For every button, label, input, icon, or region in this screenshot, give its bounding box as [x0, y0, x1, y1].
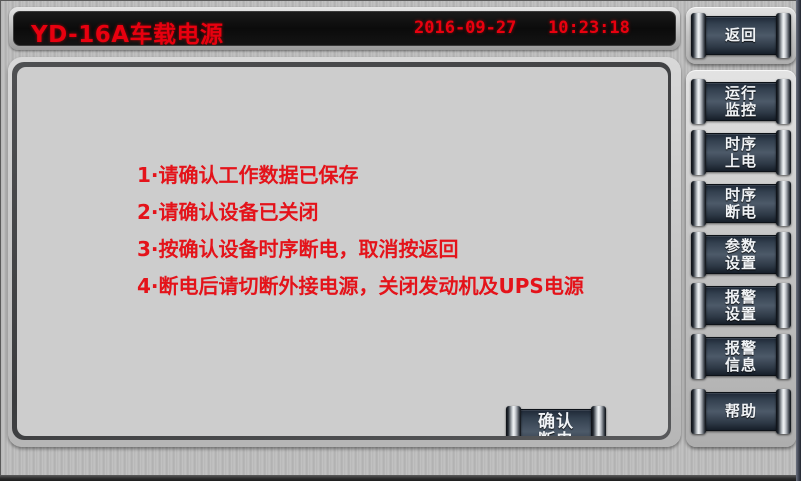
confirm-label-line1: 确认 [538, 413, 574, 431]
label-line1: 时序 [725, 136, 757, 152]
label-line2: 信息 [725, 357, 757, 373]
sidebar-item-run-monitor-label: 运行 监控 [700, 83, 782, 120]
sidebar-item-parameter-settings[interactable]: 参数 设置 [699, 235, 783, 274]
time-display: 10:23:18 [548, 18, 630, 38]
label-line2: 上电 [725, 153, 757, 169]
sidebar-item-help[interactable]: 帮助 [699, 392, 783, 431]
instruction-line-4: 4·断电后请切断外接电源，关闭发动机及UPS电源 [137, 268, 657, 305]
label-line1: 报警 [725, 289, 757, 305]
bezel-right-edge [796, 0, 801, 481]
sidebar-item-alarm-settings-body[interactable]: 报警 设置 [699, 286, 783, 325]
page-title: YD-16A车载电源 [31, 15, 224, 46]
label-line1: 运行 [725, 85, 757, 101]
sidebar-item-sequence-power-on[interactable]: 时序 上电 [699, 133, 783, 172]
instruction-list: 1·请确认工作数据已保存 2·请确认设备已关闭 3·按确认设备时序断电，取消按返… [137, 157, 657, 305]
confirm-power-off-label: 确认 断电 [515, 410, 597, 436]
bezel-bottom-edge [0, 475, 801, 481]
sidebar-item-parameter-settings-label: 参数 设置 [700, 236, 782, 273]
sidebar-item-alarm-info-label: 报警 信息 [700, 338, 782, 375]
sidebar-item-sequence-power-off-body[interactable]: 时序 断电 [699, 184, 783, 223]
instruction-line-3: 3·按确认设备时序断电，取消按返回 [137, 231, 657, 268]
sidebar-item-sequence-power-on-body[interactable]: 时序 上电 [699, 133, 783, 172]
label-line2: 设置 [725, 306, 757, 322]
label-line1: 时序 [725, 187, 757, 203]
titlebar: YD-16A车载电源 2016-09-27 10:23:18 [13, 11, 676, 46]
sidebar-item-parameter-settings-body[interactable]: 参数 设置 [699, 235, 783, 274]
sidebar-item-alarm-settings[interactable]: 报警 设置 [699, 286, 783, 325]
instruction-line-1: 1·请确认工作数据已保存 [137, 157, 657, 194]
date-display: 2016-09-27 [414, 18, 516, 38]
sidebar-item-run-monitor-body[interactable]: 运行 监控 [699, 82, 783, 121]
sidebar-item-sequence-power-off-label: 时序 断电 [700, 185, 782, 222]
sidebar-main-panel: 运行 监控 时序 上电 时序 断电 [686, 70, 796, 447]
sidebar-item-alarm-info-body[interactable]: 报警 信息 [699, 337, 783, 376]
sidebar-item-help-label: 帮助 [700, 393, 782, 430]
sidebar-item-help-body[interactable]: 帮助 [699, 392, 783, 431]
sidebar-item-alarm-settings-label: 报警 设置 [700, 287, 782, 324]
confirm-label-line2: 断电 [538, 432, 574, 437]
instruction-line-2: 2·请确认设备已关闭 [137, 194, 657, 231]
label-line2: 设置 [725, 255, 757, 271]
sidebar-top-panel: 返回 [686, 7, 796, 64]
sidebar-item-alarm-info[interactable]: 报警 信息 [699, 337, 783, 376]
sidebar-item-sequence-power-on-label: 时序 上电 [700, 134, 782, 171]
sidebar-item-back[interactable]: 返回 [699, 16, 783, 55]
label-line1: 参数 [725, 238, 757, 254]
confirm-power-off-button-body[interactable]: 确认 断电 [514, 409, 598, 436]
confirm-power-off-button[interactable]: 确认 断电 [514, 409, 598, 436]
sidebar-item-back-label: 返回 [700, 17, 782, 54]
sidebar-item-back-body[interactable]: 返回 [699, 16, 783, 55]
sidebar-item-run-monitor[interactable]: 运行 监控 [699, 82, 783, 121]
hmi-screen: YD-16A车载电源 2016-09-27 10:23:18 1·请确认工作数据… [0, 0, 801, 481]
label-line2: 监控 [725, 102, 757, 118]
label-line1: 报警 [725, 340, 757, 356]
label-line2: 断电 [725, 204, 757, 220]
sidebar-item-sequence-power-off[interactable]: 时序 断电 [699, 184, 783, 223]
content-panel: 1·请确认工作数据已保存 2·请确认设备已关闭 3·按确认设备时序断电，取消按返… [17, 67, 668, 436]
